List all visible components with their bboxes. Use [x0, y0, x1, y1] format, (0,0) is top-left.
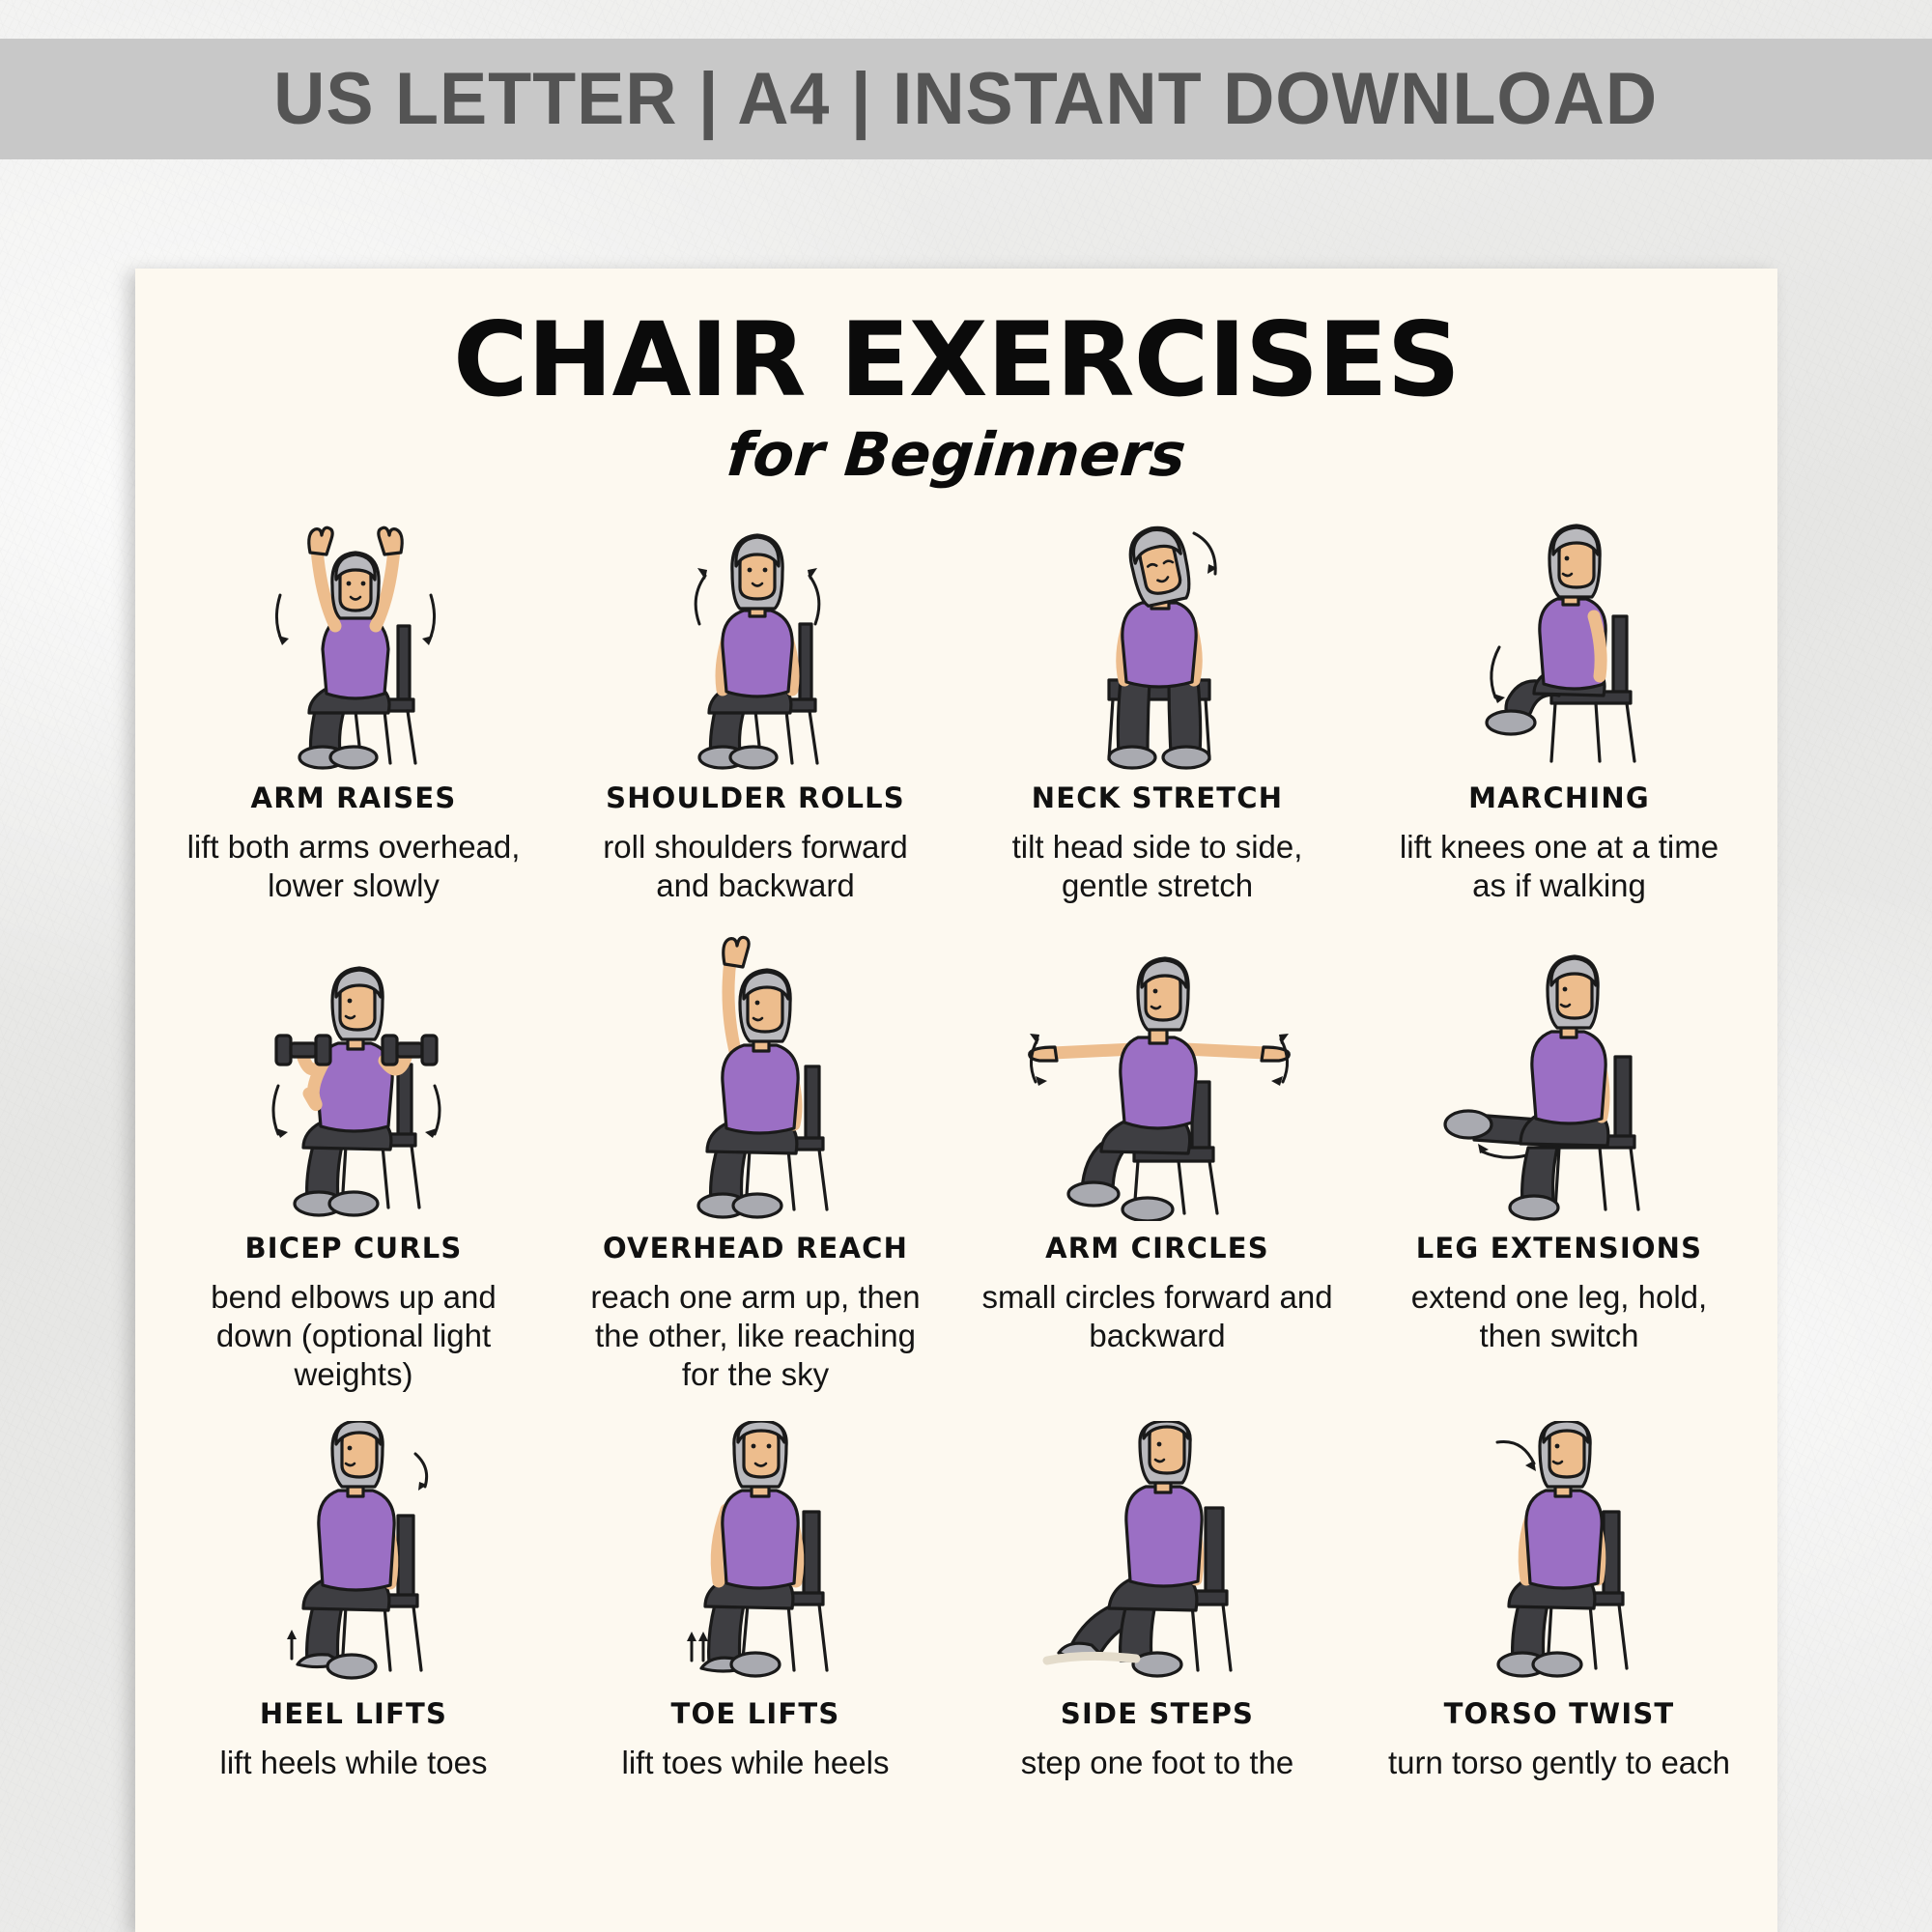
exercise-description: lift both arms overhead, lower slowly — [175, 828, 532, 906]
exercise-name: ARM RAISES — [251, 784, 457, 812]
exercise-name: OVERHEAD REACH — [603, 1235, 908, 1263]
exercise-description: turn torso gently to each — [1388, 1744, 1730, 1782]
exercise-description: reach one arm up, then the other, like r… — [577, 1278, 934, 1395]
exercise-card-shoulder-rolls: SHOULDER ROLLS roll shoulders forward an… — [554, 510, 956, 906]
exercise-card-toe-lifts: TOE LIFTS lift toes while heels — [554, 1421, 956, 1782]
exercise-description: lift knees one at a time as if walking — [1380, 828, 1738, 906]
exercise-description: roll shoulders forward and backward — [577, 828, 934, 906]
exercise-card-leg-extensions: LEG EXTENSIONS extend one leg, hold, the… — [1358, 931, 1760, 1395]
exercise-name: TOE LIFTS — [671, 1700, 840, 1728]
exercise-grid-row-3: HEEL LIFTS lift heels while toes — [135, 1421, 1777, 1782]
exercise-name: LEG EXTENSIONS — [1416, 1235, 1703, 1263]
exercise-grid-row-1: ARM RAISES lift both arms overhead, lowe… — [135, 510, 1777, 906]
exercise-description: lift toes while heels — [622, 1744, 890, 1782]
page-subtitle: for Beginners — [135, 425, 1777, 485]
arm-raises-illustration — [153, 510, 554, 771]
neck-stretch-illustration — [956, 510, 1358, 771]
exercise-name: TORSO TWIST — [1444, 1700, 1675, 1728]
exercise-name: HEEL LIFTS — [260, 1700, 447, 1728]
exercise-card-heel-lifts: HEEL LIFTS lift heels while toes — [153, 1421, 554, 1782]
shoulder-rolls-illustration — [554, 510, 956, 771]
exercise-description: step one foot to the — [1021, 1744, 1294, 1782]
exercise-name: SIDE STEPS — [1061, 1700, 1254, 1728]
page-title: CHAIR EXERCISES — [135, 309, 1777, 412]
exercise-name: MARCHING — [1468, 784, 1650, 812]
exercise-description: extend one leg, hold, then switch — [1380, 1278, 1738, 1356]
arm-circles-illustration — [956, 931, 1358, 1221]
chair-exercises-poster: CHAIR EXERCISES for Beginners — [135, 269, 1777, 1932]
side-steps-illustration — [956, 1421, 1358, 1687]
exercise-card-marching: MARCHING lift knees one at a time as if … — [1358, 510, 1760, 906]
exercise-card-neck-stretch: NECK STRETCH tilt head side to side, gen… — [956, 510, 1358, 906]
product-format-banner: US LETTER | A4 | INSTANT DOWNLOAD — [0, 39, 1932, 159]
marching-illustration — [1358, 510, 1760, 771]
exercise-name: SHOULDER ROLLS — [606, 784, 905, 812]
exercise-card-arm-raises: ARM RAISES lift both arms overhead, lowe… — [153, 510, 554, 906]
overhead-reach-illustration — [554, 931, 956, 1221]
exercise-card-bicep-curls: BICEP CURLS bend elbows up and down (opt… — [153, 931, 554, 1395]
exercise-card-overhead-reach: OVERHEAD REACH reach one arm up, then th… — [554, 931, 956, 1395]
exercise-description: tilt head side to side, gentle stretch — [979, 828, 1336, 906]
exercise-description: lift heels while toes — [220, 1744, 488, 1782]
banner-text: US LETTER | A4 | INSTANT DOWNLOAD — [274, 57, 1659, 141]
exercise-grid-row-2: BICEP CURLS bend elbows up and down (opt… — [135, 931, 1777, 1395]
heel-lifts-illustration — [153, 1421, 554, 1687]
exercise-name: ARM CIRCLES — [1045, 1235, 1269, 1263]
bicep-curls-illustration — [153, 931, 554, 1221]
toe-lifts-illustration — [554, 1421, 956, 1687]
exercise-card-arm-circles: ARM CIRCLES small circles forward and ba… — [956, 931, 1358, 1395]
exercise-card-torso-twist: TORSO TWIST turn torso gently to each — [1358, 1421, 1760, 1782]
torso-twist-illustration — [1358, 1421, 1760, 1687]
leg-extensions-illustration — [1358, 931, 1760, 1221]
exercise-description: small circles forward and backward — [979, 1278, 1336, 1356]
exercise-name: BICEP CURLS — [244, 1235, 462, 1263]
exercise-name: NECK STRETCH — [1032, 784, 1283, 812]
exercise-description: bend elbows up and down (optional light … — [175, 1278, 532, 1395]
exercise-card-side-steps: SIDE STEPS step one foot to the — [956, 1421, 1358, 1782]
